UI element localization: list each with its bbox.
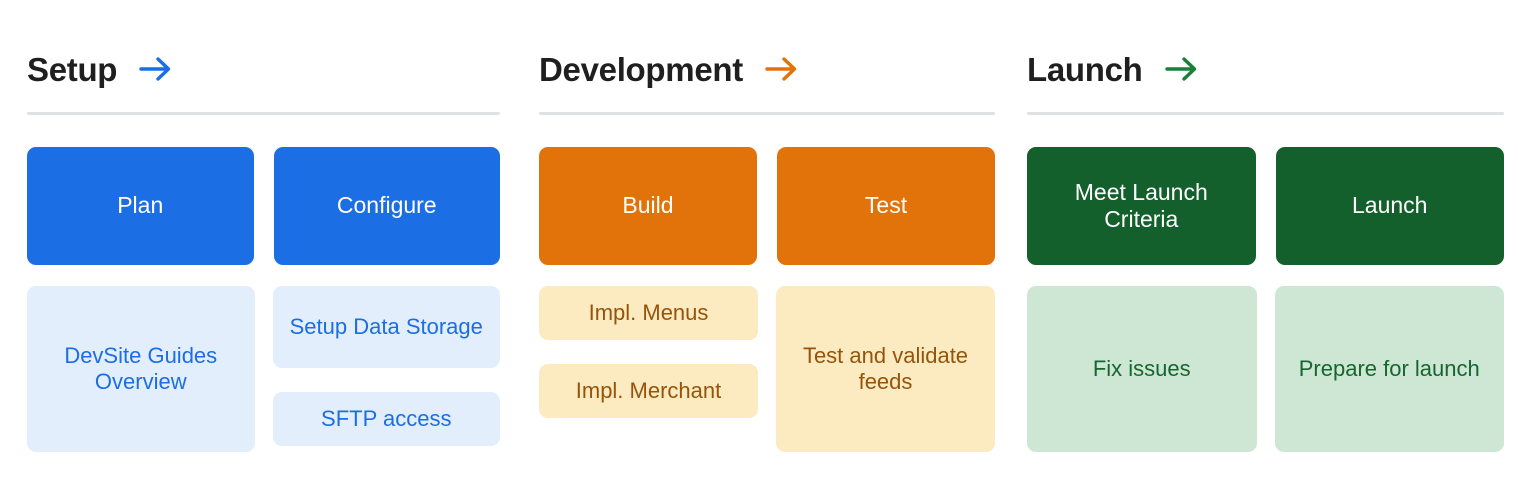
sub-card-fix-issues[interactable]: Fix issues bbox=[1027, 286, 1257, 452]
primary-card-row-development: Build Test bbox=[539, 147, 995, 265]
phase-divider-setup bbox=[27, 112, 500, 115]
sub-card-impl-menus[interactable]: Impl. Menus bbox=[539, 286, 758, 340]
sub-card-row-development: Impl. Menus Impl. Merchant Test and vali… bbox=[539, 286, 995, 452]
step-column-plan: Plan bbox=[27, 147, 254, 265]
phase-header-launch: Launch bbox=[1027, 0, 1504, 112]
sub-card-impl-merchant[interactable]: Impl. Merchant bbox=[539, 364, 758, 418]
sub-card-row-setup: DevSite Guides Overview Setup Data Stora… bbox=[27, 286, 500, 452]
phase-title-development: Development bbox=[539, 53, 743, 86]
primary-card-build[interactable]: Build bbox=[539, 147, 757, 265]
arrow-right-icon bbox=[765, 55, 799, 83]
phase-title-setup: Setup bbox=[27, 53, 117, 86]
step-column-launch: Launch bbox=[1276, 147, 1505, 265]
primary-card-row-launch: Meet Launch Criteria Launch bbox=[1027, 147, 1504, 265]
step-column-test: Test bbox=[777, 147, 995, 265]
phase-column-development: Development Build Test Impl. Menus Impl.… bbox=[520, 0, 1015, 484]
primary-card-test[interactable]: Test bbox=[777, 147, 995, 265]
sub-card-row-launch: Fix issues Prepare for launch bbox=[1027, 286, 1504, 452]
phase-header-setup: Setup bbox=[27, 0, 500, 112]
sub-column-build: Impl. Menus Impl. Merchant bbox=[539, 286, 758, 452]
phase-divider-development bbox=[539, 112, 995, 115]
sub-card-test-and-validate-feeds[interactable]: Test and validate feeds bbox=[776, 286, 995, 452]
phase-column-setup: Setup Plan Configure DevSite Guides Over… bbox=[0, 0, 520, 484]
sub-column-configure: Setup Data Storage SFTP access bbox=[273, 286, 501, 452]
arrow-right-icon bbox=[139, 55, 173, 83]
sub-column-test: Test and validate feeds bbox=[776, 286, 995, 452]
phase-divider-launch bbox=[1027, 112, 1504, 115]
step-column-meet-launch-criteria: Meet Launch Criteria bbox=[1027, 147, 1256, 265]
step-column-configure: Configure bbox=[274, 147, 501, 265]
arrow-right-icon bbox=[1165, 55, 1199, 83]
step-column-build: Build bbox=[539, 147, 757, 265]
primary-card-meet-launch-criteria[interactable]: Meet Launch Criteria bbox=[1027, 147, 1256, 265]
primary-card-plan[interactable]: Plan bbox=[27, 147, 254, 265]
phase-header-development: Development bbox=[539, 0, 995, 112]
primary-card-launch[interactable]: Launch bbox=[1276, 147, 1505, 265]
sub-column-plan: DevSite Guides Overview bbox=[27, 286, 255, 452]
sub-card-prepare-for-launch[interactable]: Prepare for launch bbox=[1275, 286, 1505, 452]
sub-column-meet-launch-criteria: Fix issues bbox=[1027, 286, 1257, 452]
primary-card-configure[interactable]: Configure bbox=[274, 147, 501, 265]
sub-card-sftp-access[interactable]: SFTP access bbox=[273, 392, 501, 446]
sub-card-setup-data-storage[interactable]: Setup Data Storage bbox=[273, 286, 501, 368]
phase-column-launch: Launch Meet Launch Criteria Launch Fix i… bbox=[1015, 0, 1518, 484]
phase-title-launch: Launch bbox=[1027, 53, 1143, 86]
roadmap-board: Setup Plan Configure DevSite Guides Over… bbox=[0, 0, 1518, 484]
sub-card-devsite-guides-overview[interactable]: DevSite Guides Overview bbox=[27, 286, 255, 452]
primary-card-row-setup: Plan Configure bbox=[27, 147, 500, 265]
sub-column-launch: Prepare for launch bbox=[1275, 286, 1505, 452]
